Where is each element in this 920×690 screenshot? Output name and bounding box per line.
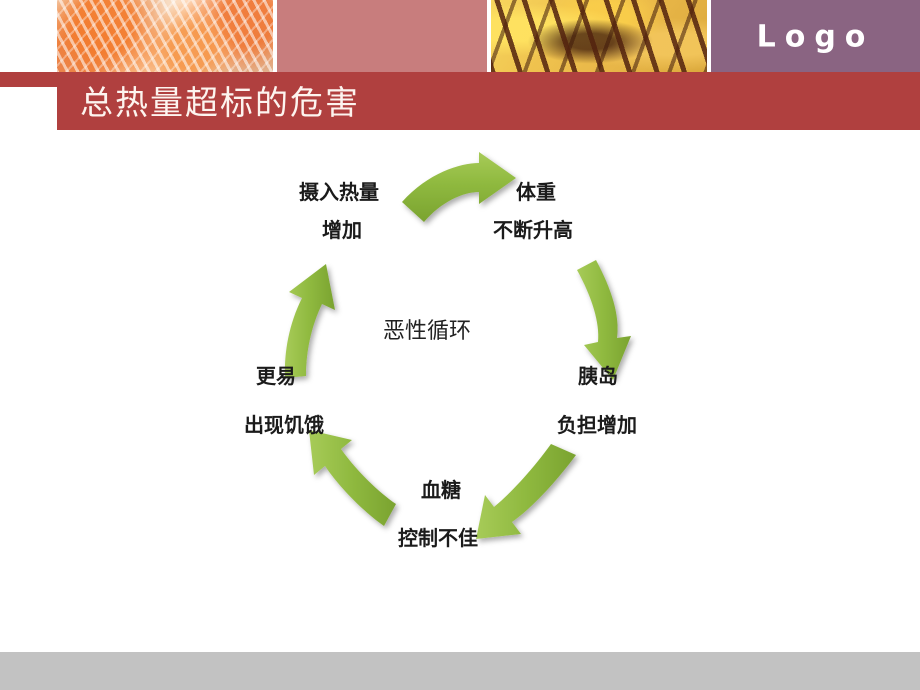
node-label-sugar-line2: 控制不佳 xyxy=(398,526,478,550)
arrow-intake-to-weight xyxy=(402,152,516,222)
arrow-hunger-to-intake xyxy=(285,264,335,378)
node-label-weight-line1: 体重 xyxy=(516,180,556,204)
fried-food-with-chocolate-drizzle-photo xyxy=(491,0,707,74)
rice-with-orange-chunks-photo xyxy=(57,0,273,74)
title-band-white-notch xyxy=(0,87,57,130)
slide-canvas: Logo 总热量超标的危害 xyxy=(0,0,920,690)
node-label-sugar-line1: 血糖 xyxy=(421,478,461,502)
logo-block: Logo xyxy=(711,0,920,74)
logo-text: Logo xyxy=(711,20,920,55)
vicious-cycle-diagram: 摄入热量 增加 体重 不断升高 恶性循环 胰岛 负担增加 血糖 控制不佳 更易 … xyxy=(0,130,920,620)
footer-bar xyxy=(0,652,920,690)
arrow-sugar-to-hunger xyxy=(309,430,396,526)
arrow-weight-to-pancreas xyxy=(577,260,631,380)
solid-pink-panel xyxy=(277,0,487,74)
node-label-pancreas-line1: 胰岛 xyxy=(578,364,618,388)
arrow-pancreas-to-sugar xyxy=(476,444,576,539)
node-label-weight-line2: 不断升高 xyxy=(493,218,573,242)
node-label-hunger-line1: 更易 xyxy=(256,364,296,388)
page-title: 总热量超标的危害 xyxy=(80,78,360,128)
cycle-center-label: 恶性循环 xyxy=(383,320,471,344)
node-label-pancreas-line2: 负担增加 xyxy=(557,413,637,437)
node-label-intake-line1: 摄入热量 xyxy=(299,180,379,204)
node-label-hunger-line2: 出现饥饿 xyxy=(244,413,324,437)
node-label-intake-line2: 增加 xyxy=(322,218,362,242)
